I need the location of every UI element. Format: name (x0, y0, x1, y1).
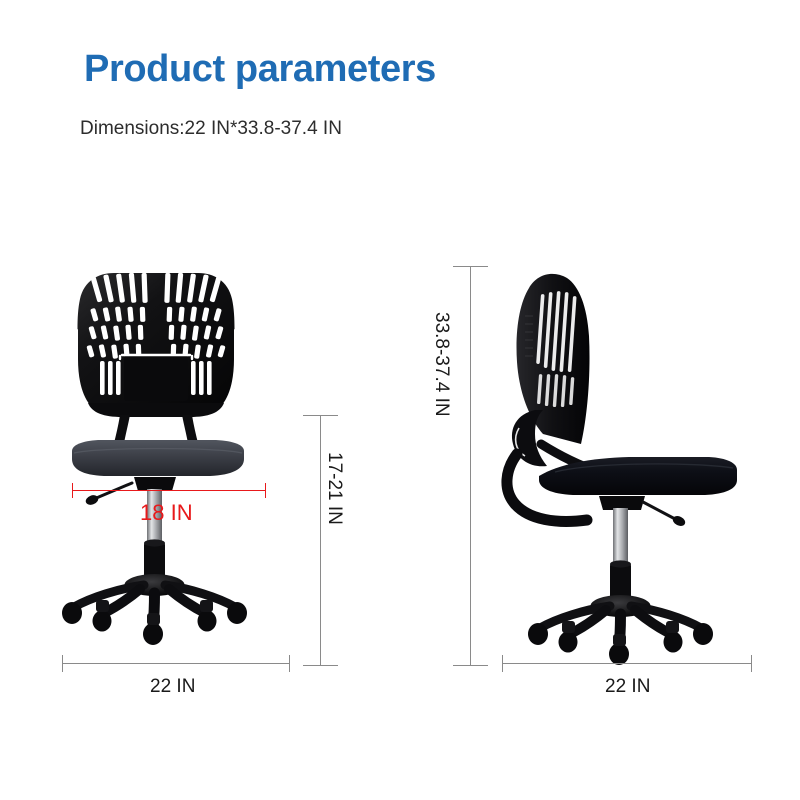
base-width-front-dimension-line (62, 663, 290, 664)
base-width-front-tick-right (289, 655, 290, 672)
base-width-side-dimension-line (502, 663, 752, 664)
seat-width-tick-right (265, 483, 266, 498)
total-height-cap-top (453, 266, 488, 267)
dimensions-subtitle: Dimensions:22 IN*33.8-37.4 IN (80, 118, 342, 140)
seat-cushion (72, 440, 244, 476)
total-height-dimension-line (470, 266, 471, 665)
seat-height-cap-top (303, 415, 338, 416)
total-height-cap-bottom (453, 665, 488, 666)
caster-base (62, 574, 247, 645)
seat-height-dimension-line (320, 415, 321, 665)
base-width-side-tick-right (751, 655, 752, 672)
seat-width-tick-left (72, 483, 73, 498)
backrest-support (114, 415, 198, 443)
seat-height-cap-bottom (303, 665, 338, 666)
chair-side-view-image (495, 258, 765, 658)
seat-height-label: 17-21 IN (323, 452, 345, 525)
base-width-side-label: 22 IN (605, 676, 650, 698)
caster-base (528, 595, 713, 665)
page-title: Product parameters (84, 48, 436, 91)
chair-front-view-image (58, 255, 318, 655)
total-height-label: 33.8-37.4 IN (430, 312, 452, 417)
backrest (72, 273, 240, 417)
base-width-front-label: 22 IN (150, 676, 195, 698)
height-adjust-lever (599, 496, 687, 528)
seat-width-label: 18 IN (140, 500, 193, 526)
gas-cylinder (610, 508, 631, 610)
seat-width-dimension-line (72, 490, 266, 491)
base-width-side-tick-left (502, 655, 503, 672)
base-width-front-tick-left (62, 655, 63, 672)
product-parameters-page: Product parameters Dimensions:22 IN*33.8… (0, 0, 800, 800)
